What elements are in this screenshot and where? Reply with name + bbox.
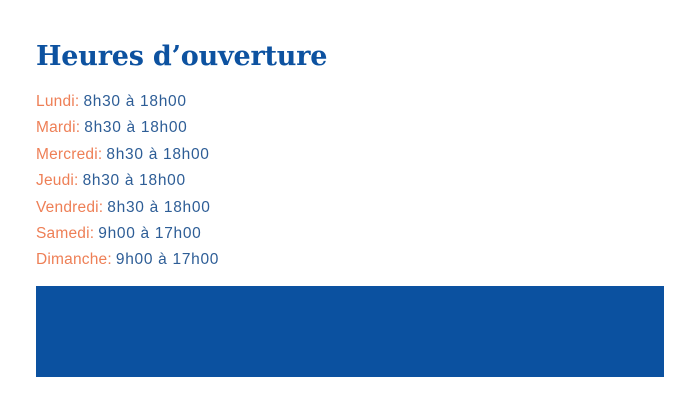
- day-label: Vendredi:: [36, 199, 103, 216]
- list-item: Samedi:9h00 à 17h00: [36, 221, 456, 247]
- opening-hours-card: Heures d’ouverture Lundi:8h30 à 18h00 Ma…: [0, 0, 700, 400]
- day-time: 8h30 à 18h00: [107, 199, 210, 216]
- list-item: Lundi:8h30 à 18h00: [36, 89, 456, 115]
- day-time: 9h00 à 17h00: [116, 251, 219, 268]
- list-item: Jeudi:8h30 à 18h00: [36, 168, 456, 194]
- day-time: 8h30 à 18h00: [84, 119, 187, 136]
- list-item: Vendredi:8h30 à 18h00: [36, 195, 456, 221]
- day-label: Mardi:: [36, 119, 80, 136]
- day-time: 8h30 à 18h00: [83, 172, 186, 189]
- footer-banner: [36, 286, 664, 377]
- day-label: Dimanche:: [36, 251, 112, 268]
- day-label: Jeudi:: [36, 172, 79, 189]
- day-label: Samedi:: [36, 225, 94, 242]
- day-time: 9h00 à 17h00: [98, 225, 201, 242]
- opening-hours-list: Lundi:8h30 à 18h00 Mardi:8h30 à 18h00 Me…: [36, 89, 456, 274]
- list-item: Mercredi:8h30 à 18h00: [36, 142, 456, 168]
- list-item: Mardi:8h30 à 18h00: [36, 115, 456, 141]
- day-label: Mercredi:: [36, 146, 102, 163]
- day-label: Lundi:: [36, 93, 79, 110]
- list-item: Dimanche:9h00 à 17h00: [36, 247, 456, 273]
- day-time: 8h30 à 18h00: [83, 93, 186, 110]
- day-time: 8h30 à 18h00: [106, 146, 209, 163]
- page-title: Heures d’ouverture: [36, 41, 327, 73]
